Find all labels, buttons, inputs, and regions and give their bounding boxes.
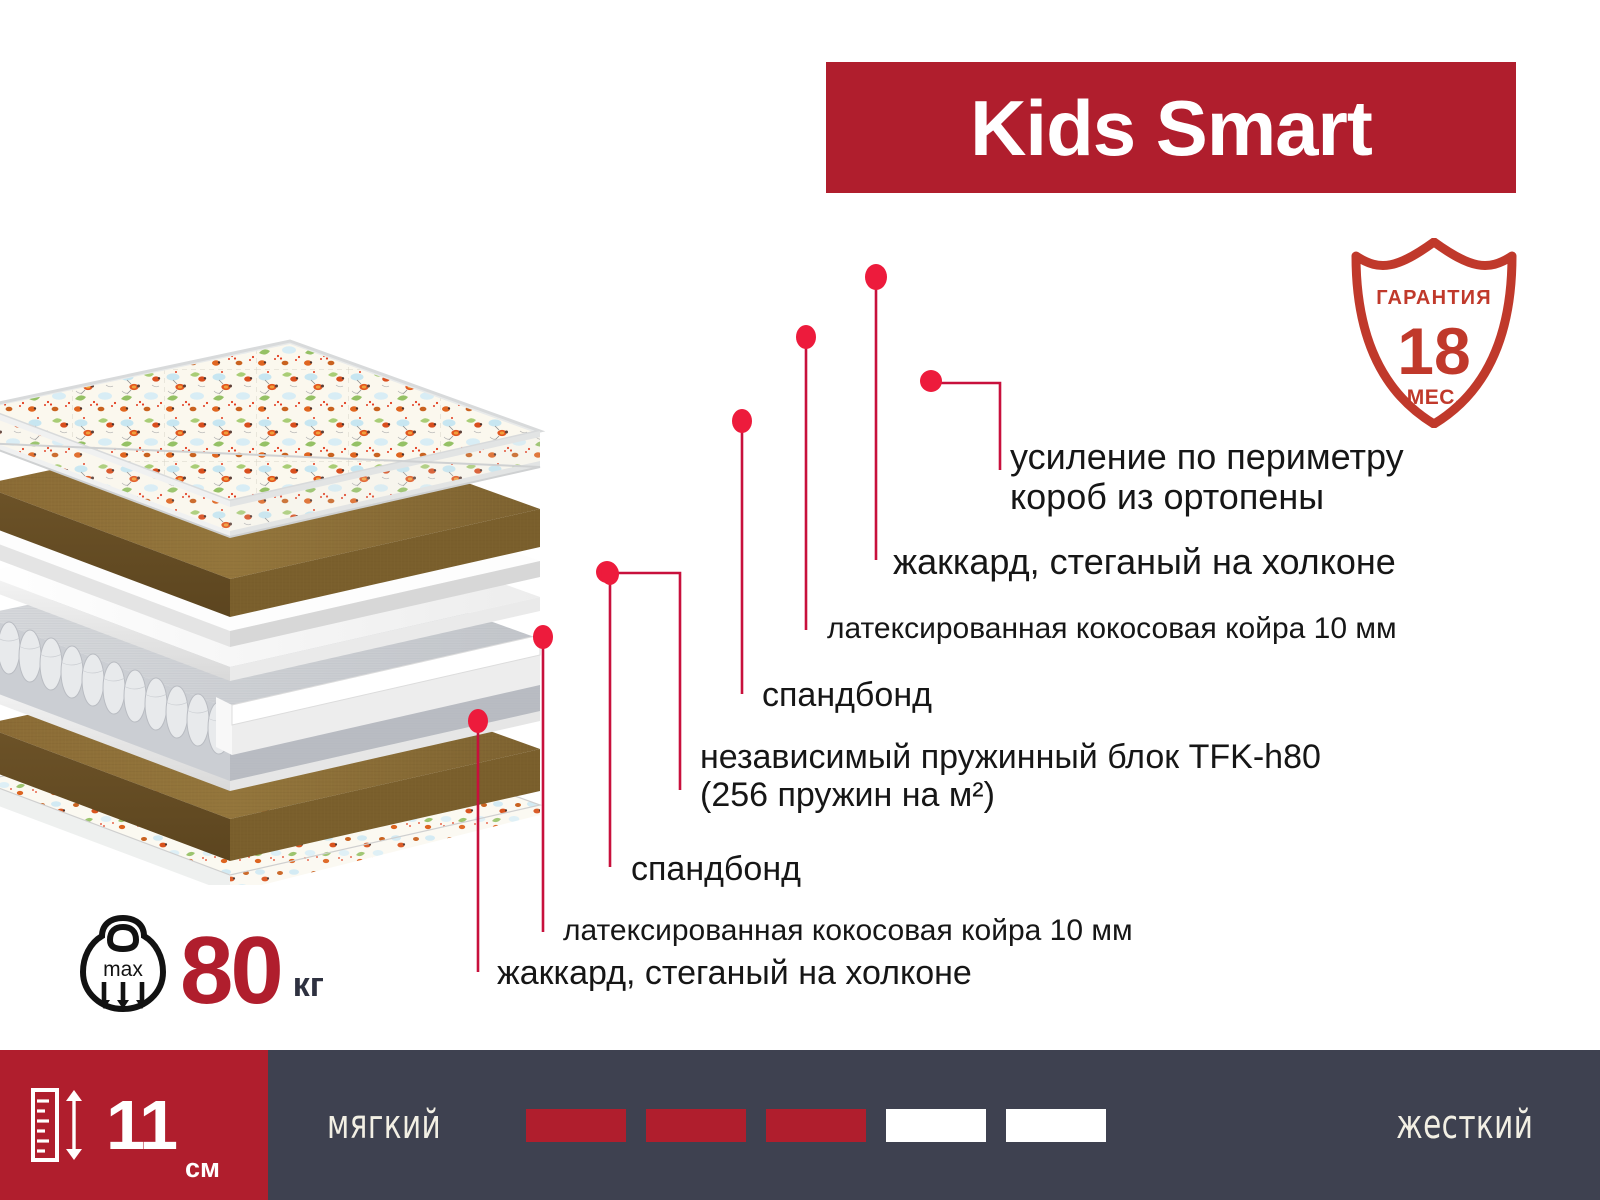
callout-label-coir-top: латексированная кокосовая койра 10 мм bbox=[827, 612, 1397, 646]
callout-label-spunbond-top: спандбонд bbox=[762, 676, 932, 714]
guarantee-top-label: ГАРАНТИЯ bbox=[1376, 287, 1492, 309]
callout-label-spring-block: независимый пружинный блок TFK-h80 (256 … bbox=[700, 738, 1321, 814]
callout-label-jacquard-bottom: жаккард, стеганый на холконе bbox=[497, 954, 972, 992]
max-weight-value: 80 bbox=[180, 927, 281, 1015]
max-weight-indicator: max 80 кг bbox=[80, 905, 390, 1015]
firmness-soft-wrap: мягкий bbox=[268, 1102, 526, 1148]
firmness-soft-label: мягкий bbox=[327, 1102, 441, 1148]
firmness-hard-label: жесткий bbox=[1396, 1102, 1533, 1148]
guarantee-unit: МЕС. bbox=[1407, 386, 1462, 409]
product-title-banner: Kids Smart bbox=[826, 62, 1516, 193]
firmness-segment-3[interactable] bbox=[766, 1109, 866, 1142]
page-title: Kids Smart bbox=[970, 89, 1372, 167]
height-value: 11 bbox=[106, 1090, 176, 1160]
firmness-hard-wrap: жесткий bbox=[1300, 1102, 1600, 1148]
firmness-scale: мягкий жесткий bbox=[268, 1050, 1600, 1200]
firmness-segment-4[interactable] bbox=[886, 1109, 986, 1142]
callout-label-coir-bottom: латексированная кокосовая койра 10 мм bbox=[563, 914, 1133, 948]
height-spec-block: 11 см bbox=[0, 1050, 268, 1200]
guarantee-value: 18 bbox=[1397, 314, 1470, 388]
callout-label-perimeter-reinforcement: усиление по периметру короб из ортопены bbox=[1010, 437, 1404, 518]
ruler-height-icon bbox=[30, 1087, 92, 1163]
kettlebell-max-icon: max bbox=[80, 910, 166, 1015]
firmness-segments bbox=[526, 1109, 1300, 1142]
max-weight-unit: кг bbox=[293, 966, 324, 1005]
firmness-segment-2[interactable] bbox=[646, 1109, 746, 1142]
infographic-canvas: Kids Smart ГАРАНТИЯ 18 МЕС. усиление по … bbox=[0, 0, 1600, 1200]
guarantee-shield-badge: ГАРАНТИЯ 18 МЕС. bbox=[1350, 238, 1518, 428]
kettlebell-max-text: max bbox=[103, 958, 143, 981]
firmness-segment-5[interactable] bbox=[1006, 1109, 1106, 1142]
callout-label-jacquard-top: жаккард, стеганый на холконе bbox=[893, 542, 1396, 582]
firmness-segment-1[interactable] bbox=[526, 1109, 626, 1142]
callout-label-spunbond-bottom: спандбонд bbox=[631, 850, 801, 888]
height-unit: см bbox=[185, 1153, 220, 1184]
bottom-specs-bar: 11 см мягкий жесткий bbox=[0, 1050, 1600, 1200]
